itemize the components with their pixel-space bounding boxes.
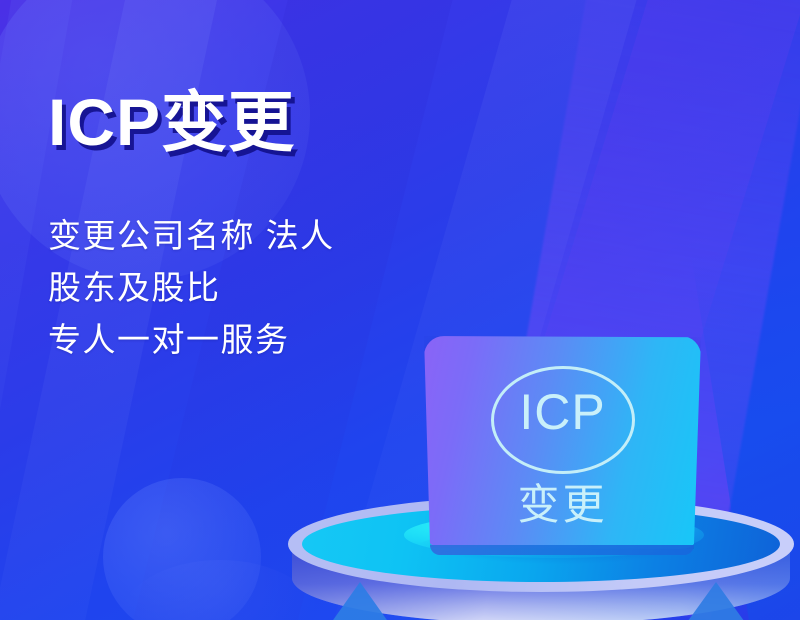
- promo-banner: ICP变更 变更公司名称 法人 股东及股比 专人一对一服务 ICP 变更: [0, 0, 800, 620]
- podium-triangle-right: [680, 582, 752, 620]
- decorative-circle-bottom-left: [103, 478, 261, 620]
- icp-card-label: 变更: [517, 484, 607, 526]
- subtitle-line-1: 变更公司名称 法人: [48, 210, 335, 262]
- icp-card-base-edge: [430, 545, 694, 555]
- page-title: ICP变更: [48, 88, 295, 157]
- subtitle-line-3: 专人一对一服务: [48, 314, 335, 366]
- podium-triangle-left: [326, 582, 394, 620]
- icp-card[interactable]: ICP 变更: [424, 336, 701, 549]
- subtitle-block: 变更公司名称 法人 股东及股比 专人一对一服务: [48, 210, 335, 366]
- subtitle-line-2: 股东及股比: [48, 262, 335, 314]
- icp-badge-text: ICP: [519, 387, 605, 437]
- icp-card-content: ICP 变更: [424, 336, 701, 549]
